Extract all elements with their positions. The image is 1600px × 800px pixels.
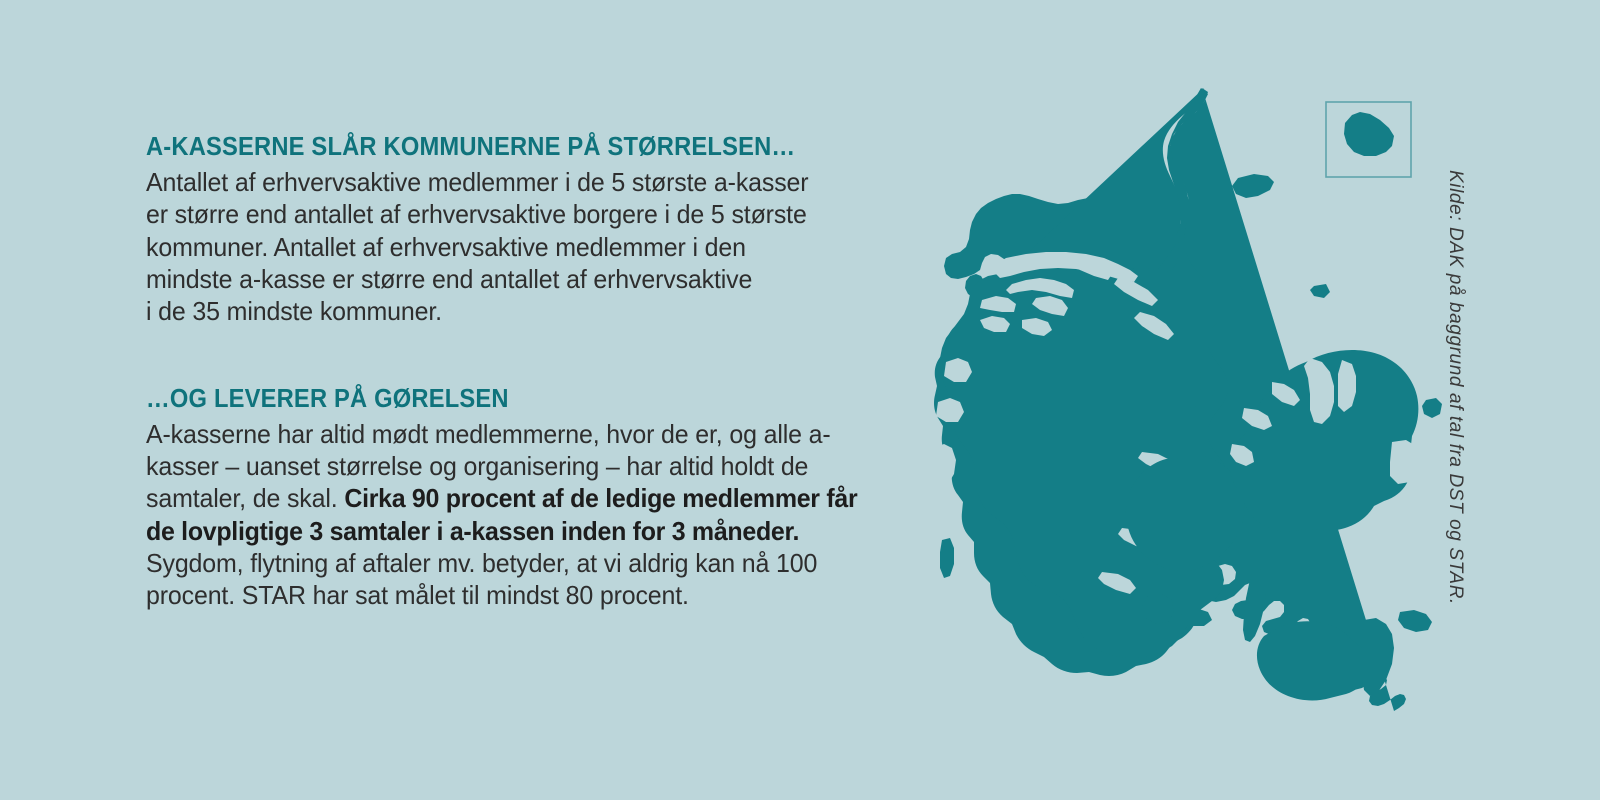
map-region-moen [1398, 610, 1432, 632]
paragraph-line: Antallet af erhvervsaktive medlemmer i d… [146, 169, 808, 197]
section-two: …OG LEVERER PÅ GØRELSEN A-kasserne har a… [146, 384, 906, 613]
map-region-laesoe [1232, 174, 1274, 198]
text-column: A-KASSERNE SLÅR KOMMUNERNE PÅ STØRRELSEN… [146, 132, 906, 612]
denmark-map [886, 72, 1466, 712]
paragraph-line: kommuner. Antallet af erhvervsaktive med… [146, 234, 746, 262]
infographic-canvas: A-KASSERNE SLÅR KOMMUNERNE PÅ STØRRELSEN… [0, 0, 1600, 800]
section-two-paragraph: A-kasserne har altid mødt medlemmerne, h… [146, 419, 887, 613]
section-two-heading: …OG LEVERER PÅ GØRELSEN [146, 384, 853, 414]
map-region-bornholm [1344, 112, 1394, 156]
paragraph-line: er større end antallet af erhvervsaktive… [146, 201, 807, 229]
map-zealand-southeast-coast [1390, 440, 1420, 484]
paragraph-line: mindste a-kasse er større end antallet a… [146, 266, 752, 294]
section-one: A-KASSERNE SLÅR KOMMUNERNE PÅ STØRRELSEN… [146, 132, 906, 329]
map-region-falster [1362, 618, 1394, 696]
paragraph-text-post: Sygdom, flytning af aftaler mv. betyder,… [146, 550, 817, 610]
map-region-zealand-north-nub [1422, 398, 1442, 418]
paragraph-line: i de 35 mindste kommuner. [146, 298, 442, 326]
map-region-anholt [1310, 284, 1330, 298]
section-one-heading: A-KASSERNE SLÅR KOMMUNERNE PÅ STØRRELSEN… [146, 132, 853, 162]
section-one-paragraph: Antallet af erhvervsaktive medlemmer i d… [146, 167, 887, 328]
